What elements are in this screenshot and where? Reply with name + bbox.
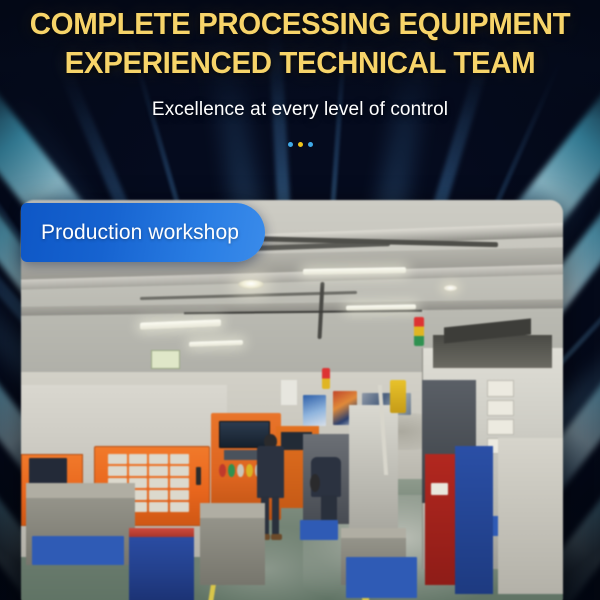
photo-machine-door-handle (196, 467, 201, 485)
photo-red-cabinet (425, 454, 455, 585)
dot-1-icon (288, 142, 293, 147)
photo-bin-center (346, 557, 416, 598)
headline-line-2: EXPERIENCED TECHNICAL TEAM (15, 42, 585, 81)
photo-blue-cabinet (455, 446, 493, 594)
photo-signal-tower-2-icon (322, 368, 330, 389)
photo-wall-poster-1 (303, 395, 326, 426)
photo-caption-label: Production workshop (41, 221, 239, 245)
dot-2-icon (298, 142, 303, 147)
photo-signal-tower-icon (414, 317, 424, 346)
promo-banner: COMPLETE PROCESSING EQUIPMENT EXPERIENCE… (0, 0, 600, 600)
photo-hanging-sign (151, 350, 180, 369)
subheadline: Excellence at every level of control (0, 99, 600, 121)
photo-fluorescent-tube-3 (346, 304, 416, 310)
photo-bin-right (300, 520, 338, 541)
photo-ceiling-lamp-1 (238, 280, 264, 289)
photo-machine-yellow-arm (390, 380, 406, 413)
photo-caption-badge[interactable]: Production workshop (21, 203, 265, 262)
photo-workbench-center (200, 503, 265, 585)
dot-3-icon (308, 142, 313, 147)
headline-line-1: COMPLETE PROCESSING EQUIPMENT (15, 0, 585, 42)
photo-whiteboard (281, 380, 297, 405)
banner-heading-block: COMPLETE PROCESSING EQUIPMENT EXPERIENCE… (0, 0, 600, 147)
photo-gray-cabinet (498, 438, 563, 594)
photo-machine-mid-2 (349, 405, 398, 528)
photo-bin-left (32, 536, 124, 565)
photo-tool-cart-1 (129, 528, 194, 600)
dot-separator (0, 142, 600, 147)
